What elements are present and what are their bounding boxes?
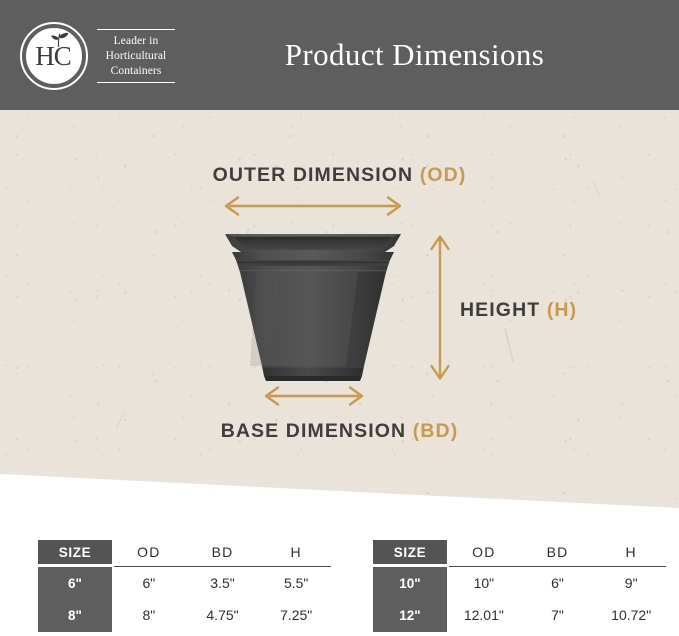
column-headers: OD BD H	[447, 540, 668, 564]
size-cell: 12"	[373, 599, 447, 631]
cell-h: 7.25"	[259, 599, 333, 631]
height-text: HEIGHT	[460, 299, 540, 321]
table-body: 10" 6" 9" 12.01" 7" 10.72"	[447, 567, 668, 632]
size-cell: 6"	[38, 567, 112, 599]
height-abbr: (H)	[547, 299, 577, 321]
size-cell: 8"	[38, 599, 112, 631]
table-body: 6" 3.5" 5.5" 8" 4.75" 7.25"	[112, 567, 333, 632]
base-dimension-arrow	[258, 385, 370, 407]
table-row: 10" 6" 9"	[447, 567, 668, 599]
height-arrow	[428, 230, 452, 385]
outer-dimension-arrow	[218, 195, 408, 217]
column-header-od: OD	[447, 540, 521, 564]
column-header-h: H	[594, 540, 668, 564]
outer-dimension-text: OUTER DIMENSION	[213, 164, 414, 186]
pot-interior	[234, 236, 392, 250]
header-bar: HC ® Leader in Horticultural Containers …	[0, 0, 679, 110]
dimension-tables: SIZE OD BD H 6" 8" 6" 3.5" 5.5" 8" 4.75"	[0, 540, 679, 636]
cell-h: 9"	[594, 567, 668, 599]
cell-od: 10"	[447, 567, 521, 599]
outer-dimension-label: OUTER DIMENSION (OD)	[0, 164, 679, 187]
size-column-header: SIZE	[38, 540, 112, 564]
base-dimension-label: BASE DIMENSION (BD)	[0, 420, 679, 443]
outer-dimension-abbr: (OD)	[420, 164, 467, 186]
table-row: 8" 4.75" 7.25"	[112, 599, 333, 631]
size-column-header: SIZE	[373, 540, 447, 564]
cell-h: 10.72"	[594, 599, 668, 631]
cell-od: 8"	[112, 599, 186, 631]
cell-h: 5.5"	[259, 567, 333, 599]
table-row: 12.01" 7" 10.72"	[447, 599, 668, 631]
column-header-h: H	[259, 540, 333, 564]
base-dimension-text: BASE DIMENSION	[221, 420, 407, 442]
column-header-bd: BD	[186, 540, 260, 564]
size-column-body: 10" 12"	[373, 567, 447, 632]
size-column-body: 6" 8"	[38, 567, 112, 632]
cell-bd: 4.75"	[186, 599, 260, 631]
cell-od: 6"	[112, 567, 186, 599]
column-headers: OD BD H	[112, 540, 333, 564]
height-label: HEIGHT (H)	[460, 299, 577, 322]
cell-bd: 7"	[521, 599, 595, 631]
column-header-od: OD	[112, 540, 186, 564]
cell-bd: 6"	[521, 567, 595, 599]
base-dimension-abbr: (BD)	[413, 420, 459, 442]
table-row: 6" 3.5" 5.5"	[112, 567, 333, 599]
dimension-table-left: SIZE OD BD H 6" 8" 6" 3.5" 5.5" 8" 4.75"	[38, 540, 333, 632]
product-dimensions-infographic: HC ® Leader in Horticultural Containers …	[0, 0, 679, 636]
cell-bd: 3.5"	[186, 567, 260, 599]
dimension-table-right: SIZE OD BD H 10" 12" 10" 6" 9" 12.01" 7"	[373, 540, 668, 632]
cell-od: 12.01"	[447, 599, 521, 631]
pot-base	[262, 366, 364, 376]
pot-collar	[232, 252, 394, 260]
page-title: Product Dimensions	[0, 0, 679, 110]
planter-pot-illustration	[218, 226, 408, 386]
size-cell: 10"	[373, 567, 447, 599]
column-header-bd: BD	[521, 540, 595, 564]
